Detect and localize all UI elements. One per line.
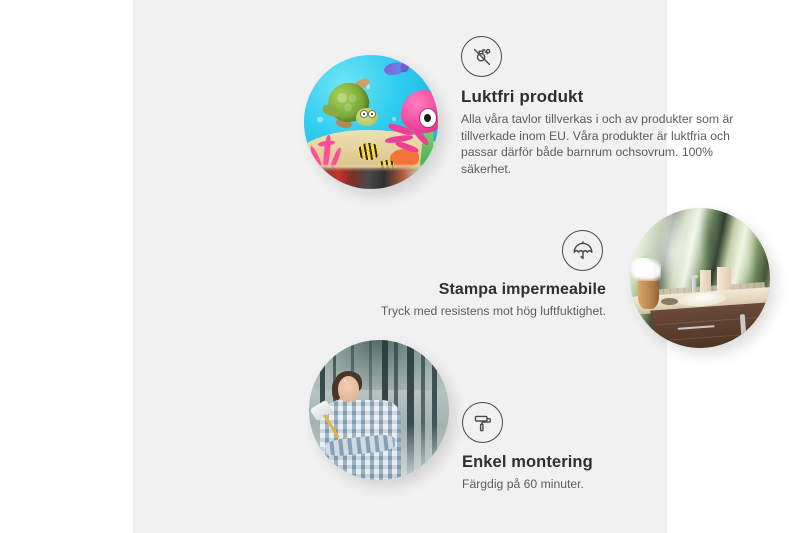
no-perfume-spray-icon (461, 36, 502, 77)
turtle-illustration (324, 82, 386, 136)
bathroom-photo (630, 208, 770, 348)
feature-image-underwater-kids-scene (304, 55, 438, 189)
feature-description: Färgdig på 60 minuter. (462, 476, 732, 493)
soap-dish-object (661, 298, 678, 305)
room-photo-strip (304, 168, 438, 189)
feature-block-easy-mounting: Enkel montering Färgdig på 60 minuter. (462, 402, 732, 493)
umbrella-icon (562, 230, 603, 271)
feature-block-odour-free: Luktfri produkt Alla våra tavlor tillver… (461, 36, 761, 177)
feature-title: Luktfri produkt (461, 87, 761, 107)
content-panel: Luktfri produkt Alla våra tavlor tillver… (133, 0, 667, 533)
feature-title: Stampa impermeabile (346, 281, 606, 299)
feature-image-bathroom-leaf-mural (630, 208, 770, 348)
wooden-cabinet (651, 301, 770, 348)
feature-description: Tryck med resistens mot hög luftfuktighe… (346, 303, 606, 320)
feature-title: Enkel montering (462, 453, 732, 472)
forest-photo (309, 340, 449, 480)
octopus-illustration (387, 90, 438, 160)
face (338, 376, 359, 402)
feature-image-woman-with-paint-roller-forest (309, 340, 449, 480)
underwater-illustration (304, 55, 438, 189)
flowers-object (630, 258, 661, 280)
yellow-fish-illustration (358, 143, 379, 159)
woman-figure (320, 374, 401, 480)
bubble-icon (317, 117, 322, 122)
paint-roller-icon (462, 402, 503, 443)
feature-block-waterproof-print: Stampa impermeabile Tryck med resistens … (346, 230, 606, 320)
promo-infographic: Luktfri produkt Alla våra tavlor tillver… (0, 0, 800, 533)
feature-description: Alla våra tavlor tillverkas i och av pro… (461, 111, 761, 177)
